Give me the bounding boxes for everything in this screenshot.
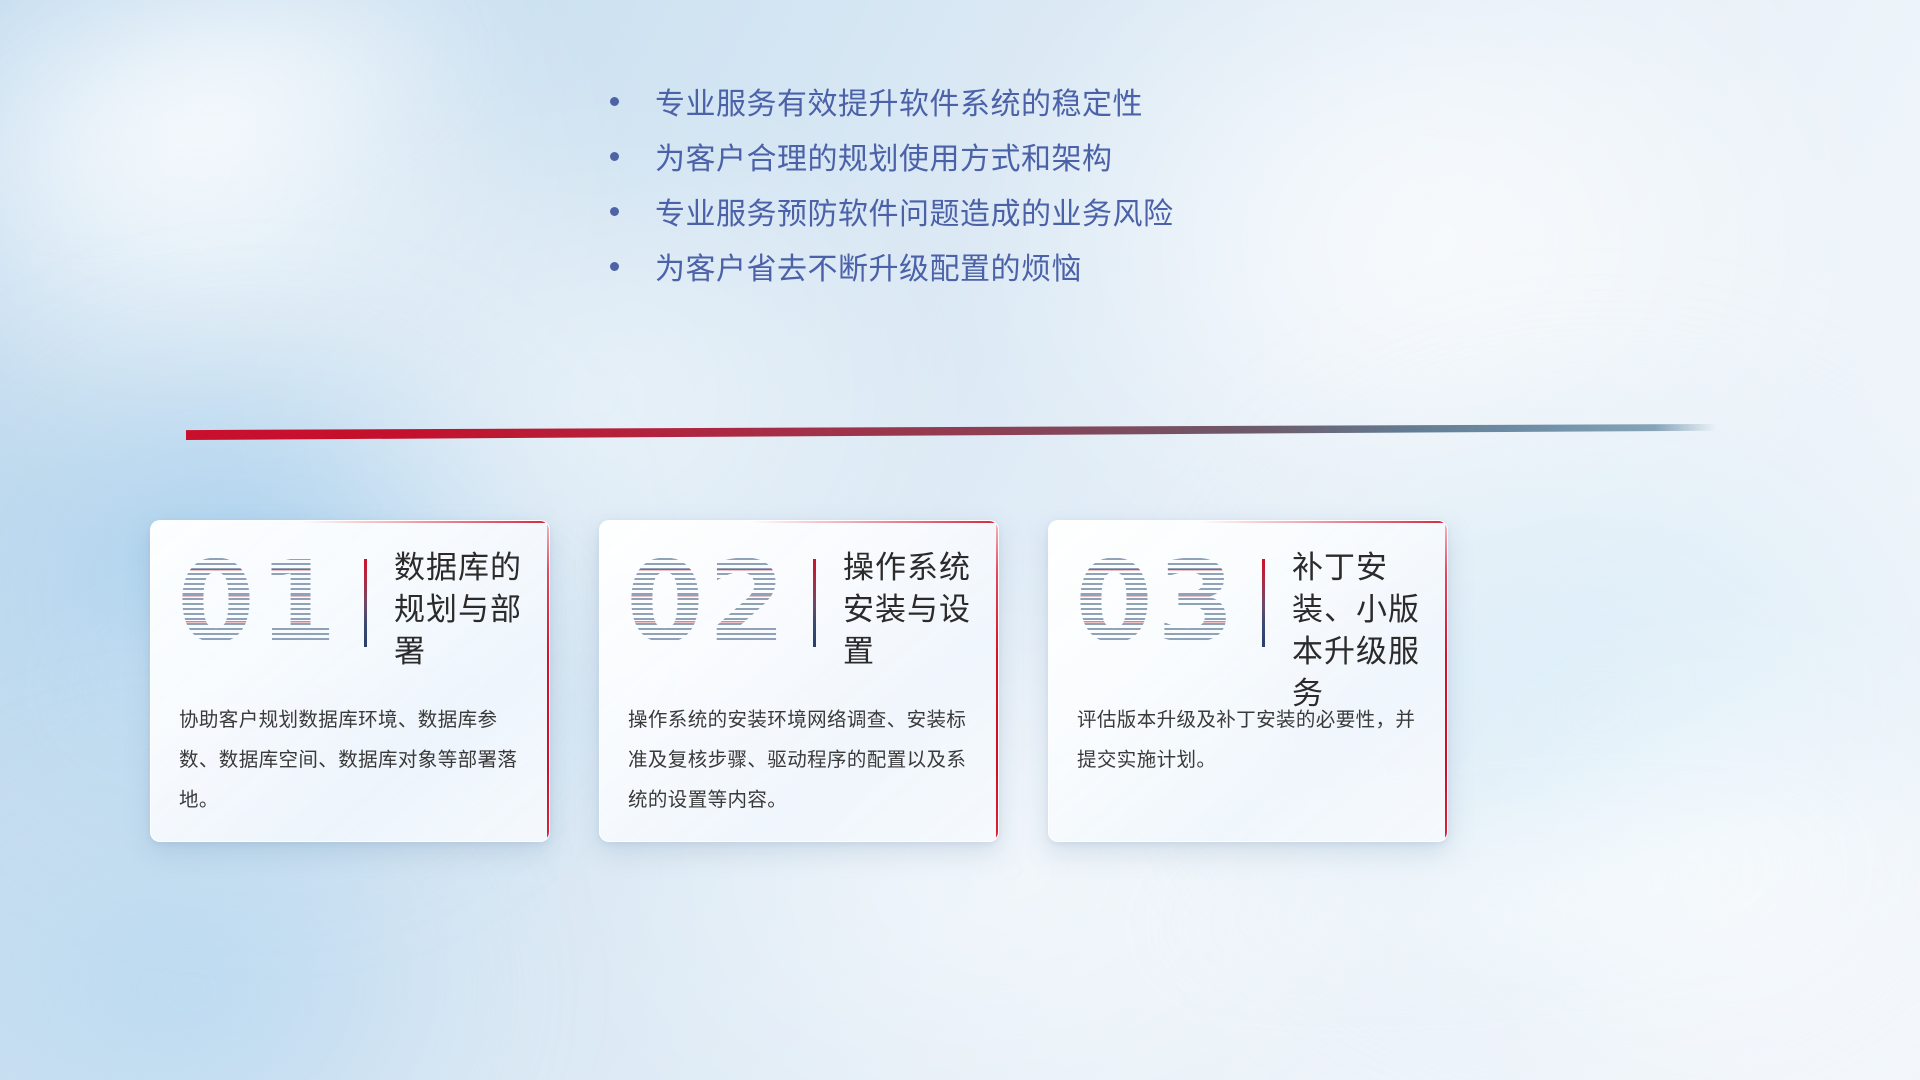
- list-item: 专业服务预防软件问题造成的业务风险: [610, 198, 1310, 231]
- card-title-rule: [1262, 559, 1265, 647]
- card-header: 01 01 数据库的规划与部署: [151, 521, 549, 681]
- section-divider: [186, 424, 1716, 440]
- card-title: 操作系统安装与设置: [843, 547, 983, 673]
- card-number-overlay: 01: [177, 543, 352, 663]
- card-header: 03 03 补丁安装、小版本升级服务: [1049, 521, 1447, 681]
- service-card-03[interactable]: 03 03 补丁安装、小版本升级服务 评估版本升级及补丁安装的必要性，并提交实施…: [1048, 520, 1448, 842]
- bullet-label: 为客户合理的规划使用方式和架构: [655, 143, 1113, 176]
- divider-shape: [186, 424, 1716, 440]
- service-card-01[interactable]: 01 01 数据库的规划与部署 协助客户规划数据库环境、数据库参数、数据库空间、…: [150, 520, 550, 842]
- card-number-overlay: 03: [1075, 543, 1250, 663]
- card-title-rule: [813, 559, 816, 647]
- card-description: 操作系统的安装环境网络调查、安装标准及复核步骤、驱动程序的配置以及系统的设置等内…: [628, 701, 972, 820]
- card-number-watermark: 01 01: [177, 543, 352, 663]
- card-title: 补丁安装、小版本升级服务: [1292, 547, 1432, 714]
- card-description: 评估版本升级及补丁安装的必要性，并提交实施计划。: [1077, 701, 1421, 781]
- card-description: 协助客户规划数据库环境、数据库参数、数据库空间、数据库对象等部署落地。: [179, 701, 523, 820]
- bullet-dot-icon: [610, 262, 619, 271]
- list-item: 专业服务有效提升软件系统的稳定性: [610, 88, 1310, 121]
- bullet-dot-icon: [610, 207, 619, 216]
- benefits-bullet-list: 专业服务有效提升软件系统的稳定性 为客户合理的规划使用方式和架构 专业服务预防软…: [0, 88, 1920, 308]
- service-card-list: 01 01 数据库的规划与部署 协助客户规划数据库环境、数据库参数、数据库空间、…: [150, 520, 1770, 842]
- bullet-label: 专业服务有效提升软件系统的稳定性: [655, 88, 1143, 121]
- service-card-02[interactable]: 02 02 操作系统安装与设置 操作系统的安装环境网络调查、安装标准及复核步骤、…: [599, 520, 999, 842]
- card-number-watermark: 02 02: [626, 543, 801, 663]
- card-number-watermark: 03 03: [1075, 543, 1250, 663]
- bullet-dot-icon: [610, 97, 619, 106]
- bullet-label: 专业服务预防软件问题造成的业务风险: [655, 198, 1174, 231]
- list-item: 为客户省去不断升级配置的烦恼: [610, 253, 1310, 286]
- card-number-overlay: 02: [626, 543, 801, 663]
- bullet-label: 为客户省去不断升级配置的烦恼: [655, 253, 1082, 286]
- list-item: 为客户合理的规划使用方式和架构: [610, 143, 1310, 176]
- card-title-rule: [364, 559, 367, 647]
- card-header: 02 02 操作系统安装与设置: [600, 521, 998, 681]
- bullet-dot-icon: [610, 152, 619, 161]
- card-title: 数据库的规划与部署: [394, 547, 534, 673]
